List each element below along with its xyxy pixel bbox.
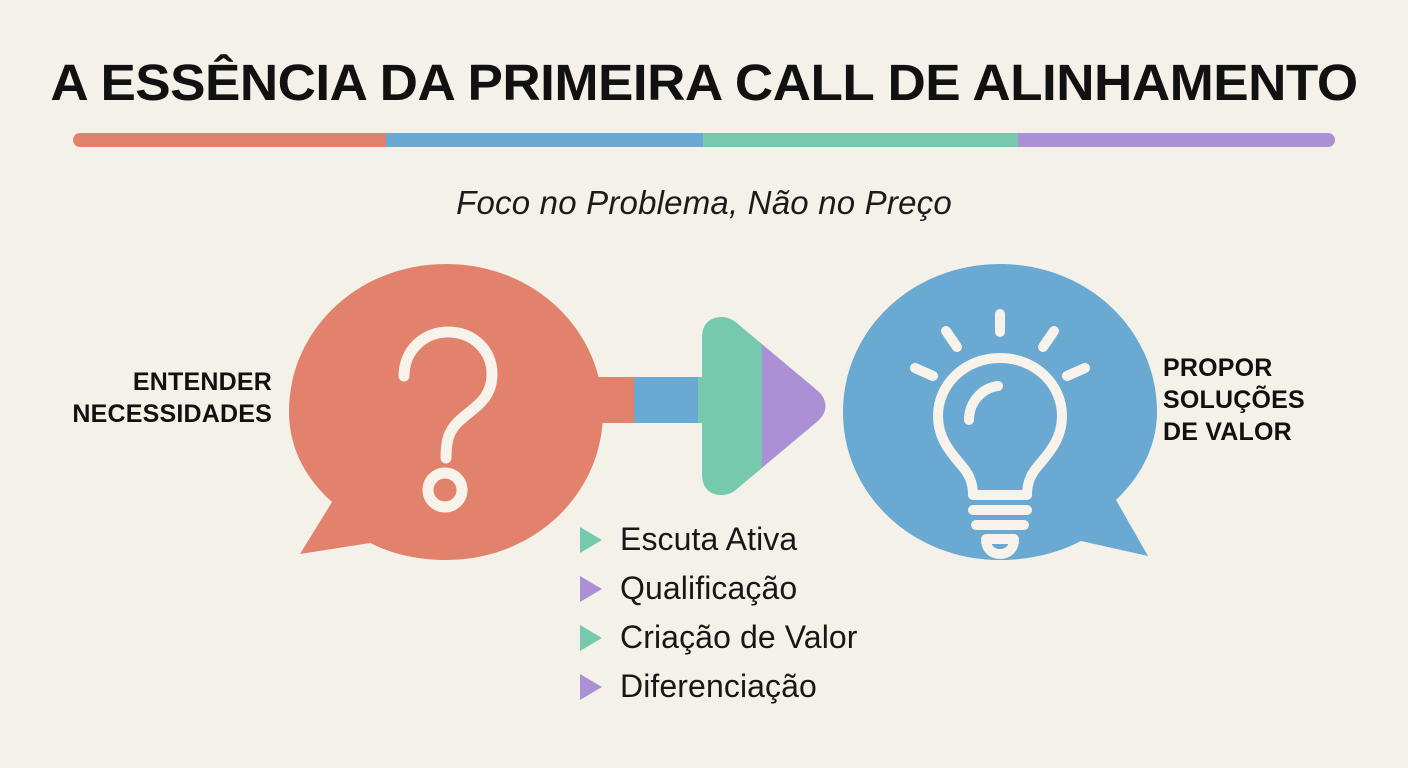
triangle-bullet-icon	[580, 527, 602, 553]
list-item-label: Escuta Ativa	[620, 521, 797, 558]
right-stage-label: PROPOR SOLUÇÕES DE VALOR	[1163, 352, 1398, 448]
right-stage-label-line2: SOLUÇÕES	[1163, 384, 1398, 416]
arrow-shaft-blue	[634, 377, 698, 423]
process-arrow	[560, 312, 835, 497]
left-stage-label: ENTENDER NECESSIDADES	[20, 366, 272, 430]
arrow-head-purple	[762, 312, 835, 497]
triangle-bullet-icon	[580, 625, 602, 651]
right-stage-label-line1: PROPOR	[1163, 352, 1398, 384]
triangle-bullet-icon	[580, 674, 602, 700]
arrow-shaft-coral	[560, 377, 634, 423]
divider-segment-purple	[1018, 133, 1335, 147]
page-title: A ESSÊNCIA DA PRIMEIRA CALL DE ALINHAMEN…	[0, 56, 1408, 110]
bullet-list: Escuta Ativa Qualificação Criação de Val…	[580, 515, 1000, 711]
page-subtitle: Foco no Problema, Não no Preço	[0, 184, 1408, 222]
list-item[interactable]: Diferenciação	[580, 662, 1000, 711]
list-item[interactable]: Qualificação	[580, 564, 1000, 613]
left-bubble-shape	[289, 264, 603, 560]
divider-segment-coral	[73, 133, 386, 147]
list-item-label: Diferenciação	[620, 668, 817, 705]
list-item[interactable]: Criação de Valor	[580, 613, 1000, 662]
list-item-label: Criação de Valor	[620, 619, 858, 656]
left-stage-label-line2: NECESSIDADES	[20, 398, 272, 430]
left-speech-bubble	[286, 262, 606, 562]
triangle-bullet-icon	[580, 576, 602, 602]
list-item[interactable]: Escuta Ativa	[580, 515, 1000, 564]
divider-segment-blue	[386, 133, 703, 147]
infographic-slide: A ESSÊNCIA DA PRIMEIRA CALL DE ALINHAMEN…	[0, 0, 1408, 768]
left-stage-label-line1: ENTENDER	[20, 366, 272, 398]
right-stage-label-line3: DE VALOR	[1163, 416, 1398, 448]
arrow-head	[700, 312, 835, 497]
divider-segment-green	[703, 133, 1019, 147]
arrow-head-green	[700, 312, 762, 497]
list-item-label: Qualificação	[620, 570, 797, 607]
color-divider-bar	[73, 133, 1335, 147]
